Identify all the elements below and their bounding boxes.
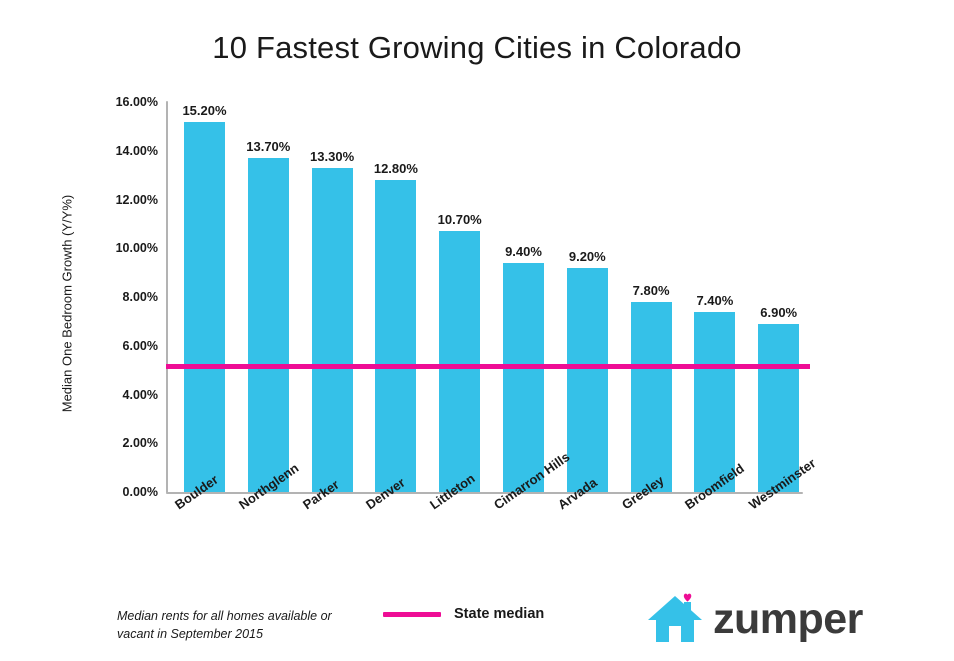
y-axis-tick-label: 14.00% [48,144,158,158]
bar-value-label: 9.20% [542,249,632,264]
y-axis-tick-label: 12.00% [48,193,158,207]
bar-group[interactable]: 6.90% [758,102,799,492]
state-median-legend-swatch [383,612,441,617]
y-axis-tick-label: 8.00% [48,290,158,304]
bar-value-label: 6.90% [734,305,824,320]
bar[interactable] [631,302,672,492]
bar[interactable] [439,231,480,492]
state-median-line [166,364,810,369]
y-axis-tick-label: 16.00% [48,95,158,109]
bar-value-label: 15.20% [160,103,250,118]
bar[interactable] [503,263,544,492]
bar-group[interactable]: 9.40% [503,102,544,492]
footnote: Median rents for all homes available or … [117,607,347,643]
bar[interactable] [567,268,608,492]
y-axis-tick-labels: 0.00%2.00%4.00%6.00%8.00%10.00%12.00%14.… [48,0,158,661]
zumper-logo: zumper [648,592,863,649]
y-axis-tick-label: 10.00% [48,241,158,255]
chart-legend: State median [383,606,544,622]
y-axis-tick-label: 2.00% [48,436,158,450]
bar[interactable] [375,180,416,492]
bar-group[interactable]: 12.80% [375,102,416,492]
y-axis-tick-label: 6.00% [48,339,158,353]
y-axis-tick-label: 4.00% [48,388,158,402]
state-median-legend-label: State median [454,606,544,622]
bar-group[interactable]: 7.80% [631,102,672,492]
zumper-wordmark: zumper [713,598,863,644]
bar-value-label: 10.70% [415,212,505,227]
bar[interactable] [184,122,225,493]
bar-group[interactable]: 7.40% [694,102,735,492]
y-axis-tick-label: 0.00% [48,485,158,499]
bar-group[interactable]: 10.70% [439,102,480,492]
bar[interactable] [248,158,289,492]
house-icon [648,592,704,649]
bar[interactable] [312,168,353,492]
bar-group[interactable]: 15.20% [184,102,225,492]
bar-group[interactable]: 9.20% [567,102,608,492]
bar-value-label: 12.80% [351,161,441,176]
plot-area: 15.20%13.70%13.30%12.80%10.70%9.40%9.20%… [166,102,800,492]
bar-group[interactable]: 13.70% [248,102,289,492]
bar[interactable] [694,312,735,492]
bar-group[interactable]: 13.30% [312,102,353,492]
